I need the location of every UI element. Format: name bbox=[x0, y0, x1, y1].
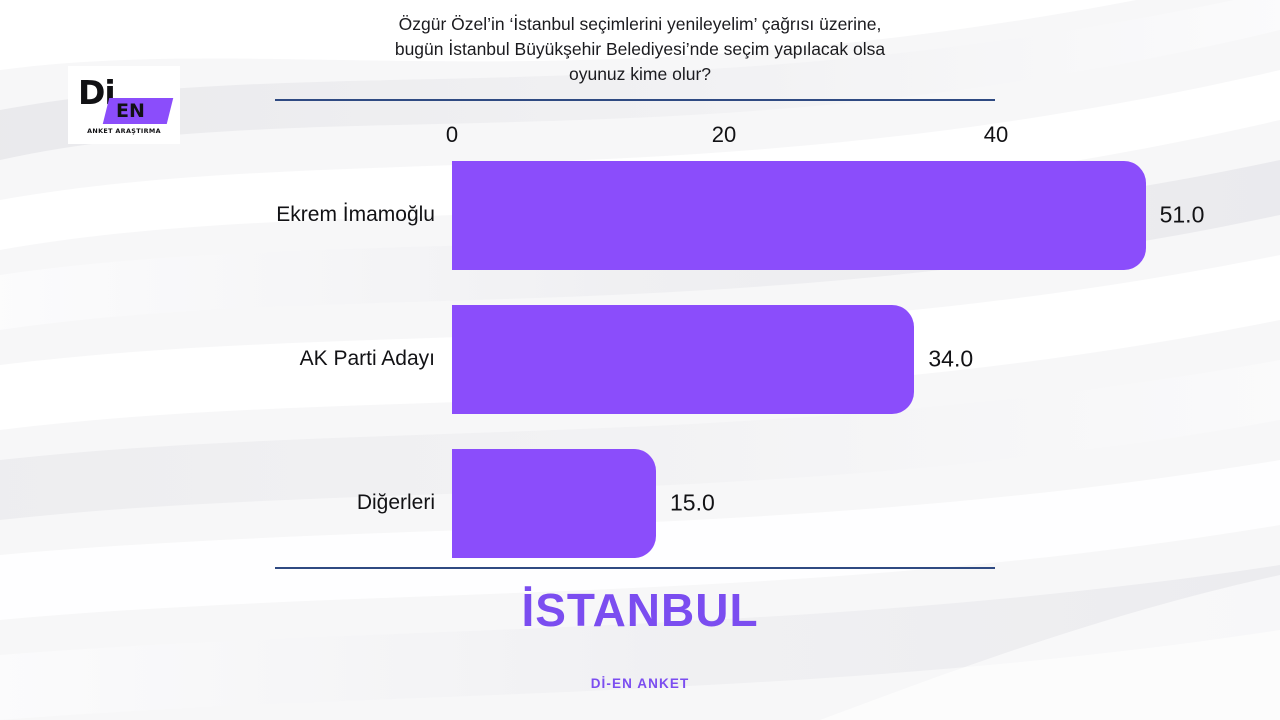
brand-logo: Di EN ANKET ARAŞTIRMA bbox=[68, 66, 180, 144]
bar-value-label: 34.0 bbox=[928, 346, 973, 373]
logo-tagline: ANKET ARAŞTIRMA bbox=[87, 127, 161, 135]
category-label: Diğerleri bbox=[357, 491, 435, 515]
bar-1[interactable] bbox=[452, 161, 1146, 270]
footer-city-label: İSTANBUL bbox=[0, 583, 1280, 637]
footer-brand-label: Dİ-EN ANKET bbox=[0, 676, 1280, 691]
bar-2[interactable] bbox=[452, 305, 914, 414]
bar-value-label: 51.0 bbox=[1160, 202, 1205, 229]
category-label: Ekrem İmamoğlu bbox=[276, 203, 435, 227]
logo-mark: Di EN bbox=[74, 76, 174, 126]
bar-value-label: 15.0 bbox=[670, 490, 715, 517]
bar-3[interactable] bbox=[452, 449, 656, 558]
category-label: AK Parti Adayı bbox=[300, 347, 435, 371]
logo-badge-text: EN bbox=[116, 100, 145, 122]
